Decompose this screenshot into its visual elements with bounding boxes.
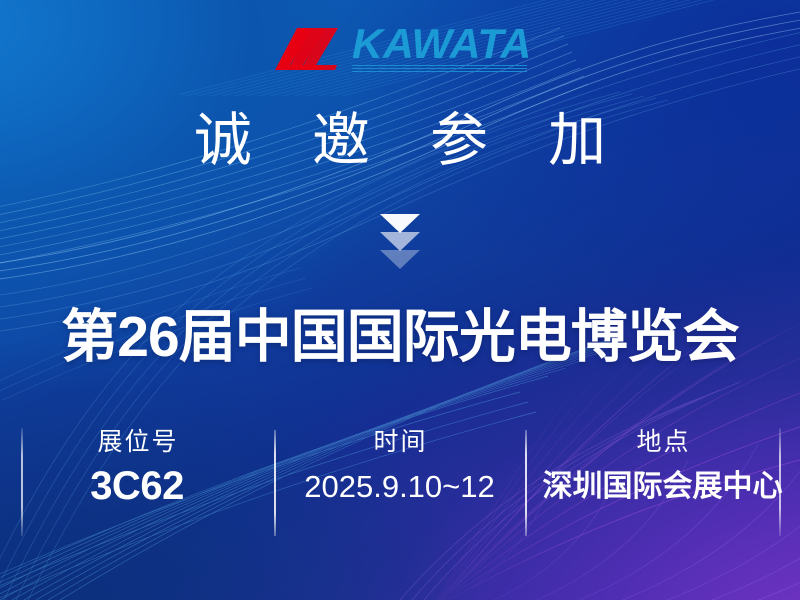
detail-booth: 展位号 3C62 [0, 424, 274, 536]
chevron-down-icon [380, 232, 420, 251]
chevron-down-icon [380, 214, 420, 233]
detail-divider [525, 430, 527, 536]
detail-venue: 地点 深圳国际会展中心 [525, 424, 800, 536]
exhibition-invitation-poster: KAWATA 诚 邀 参 加 第26届中国国际光电博览会 展位号 3C62 时间… [0, 0, 800, 600]
detail-divider [274, 430, 276, 536]
chevron-down-triple-icon [0, 214, 800, 269]
detail-date: 时间 2025.9.10~12 [274, 424, 525, 536]
detail-booth-value: 3C62 [90, 463, 184, 509]
event-details-row: 展位号 3C62 时间 2025.9.10~12 地点 深圳国际会展中心 [0, 424, 800, 536]
detail-venue-label: 地点 [634, 428, 690, 457]
invitation-title: 诚 邀 参 加 [0, 112, 800, 170]
edge-accent-line-right [779, 428, 781, 536]
detail-booth-label: 展位号 [95, 428, 178, 457]
detail-date-label: 时间 [371, 428, 427, 457]
edge-accent-line-left [21, 428, 23, 536]
kawata-triple-chevron-mark [273, 27, 345, 71]
detail-venue-value: 深圳国际会展中心 [543, 470, 783, 505]
event-headline: 第26届中国国际光电博览会 [14, 307, 786, 369]
logo-wordmark: KAWATA [352, 24, 531, 64]
brand-logo: KAWATA [0, 22, 800, 76]
chevron-down-icon [380, 250, 420, 269]
detail-date-value: 2025.9.10~12 [304, 469, 495, 505]
